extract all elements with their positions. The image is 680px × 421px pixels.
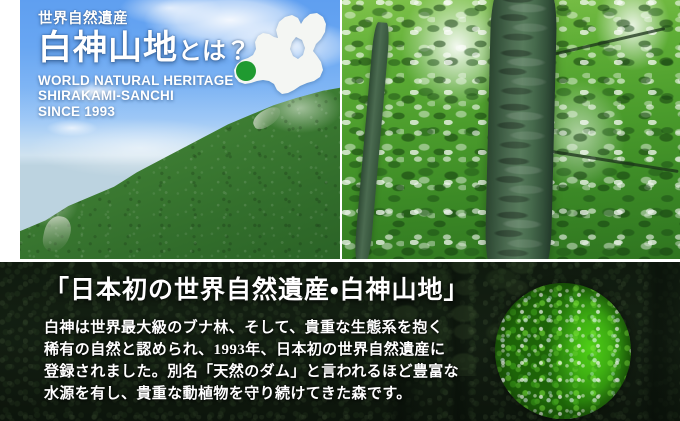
horizontal-divider bbox=[0, 259, 680, 262]
caption-title: 「日本初の世界自然遺産・白神山地」 bbox=[44, 278, 470, 303]
banner-title-suffix: とは？ bbox=[178, 39, 250, 65]
caption-block: 「日本初の世界自然遺産・白神山地」 白神は世界最大級のブナ林、そして、貴重な生態… bbox=[44, 278, 470, 405]
banner-title: 白神山地とは？ bbox=[38, 32, 250, 66]
left-white-margin bbox=[0, 0, 20, 259]
caption-body: 白神は世界最大級のブナ林、そして、貴重な生態系を抱く 稀有の自然と認められ、19… bbox=[44, 317, 470, 405]
banner-kicker: 世界自然遺産 bbox=[38, 12, 250, 27]
shirakami-sanchi-banner: 世界自然遺産 白神山地とは？ WORLD NATURAL HERITAGE SH… bbox=[0, 0, 680, 421]
banner-top-section: 世界自然遺産 白神山地とは？ WORLD NATURAL HERITAGE SH… bbox=[0, 0, 680, 259]
banner-bottom-section: 「日本初の世界自然遺産・白神山地」 白神は世界最大級のブナ林、そして、貴重な生態… bbox=[0, 262, 680, 421]
circle-vignette bbox=[495, 283, 631, 419]
vertical-divider bbox=[340, 0, 342, 259]
banner-english-subtitle: WORLD NATURAL HERITAGE SHIRAKAMI-SANCHI … bbox=[38, 73, 250, 120]
caption-line-3: 登録されました。別名「天然のダム」と言われるほど豊富な bbox=[44, 361, 470, 383]
banner-title-main: 白神山地 bbox=[38, 30, 178, 67]
english-line-1: WORLD NATURAL HERITAGE bbox=[38, 73, 250, 89]
beech-trunk-main bbox=[485, 0, 558, 259]
caption-line-4: 水源を有し、貴重な動植物を守り続けてきた森です。 bbox=[44, 383, 470, 405]
english-line-2: SHIRAKAMI-SANCHI bbox=[38, 88, 250, 104]
caption-line-2: 稀有の自然と認められ、1993年、日本初の世界自然遺産に bbox=[44, 339, 470, 361]
english-line-3: SINCE 1993 bbox=[38, 104, 250, 120]
beech-forest-canopy-photo bbox=[342, 0, 680, 259]
mossy-stream-circle-photo bbox=[495, 283, 631, 419]
banner-headline-block: 世界自然遺産 白神山地とは？ WORLD NATURAL HERITAGE SH… bbox=[38, 12, 250, 119]
caption-line-1: 白神は世界最大級のブナ林、そして、貴重な生態系を抱く bbox=[44, 317, 470, 339]
